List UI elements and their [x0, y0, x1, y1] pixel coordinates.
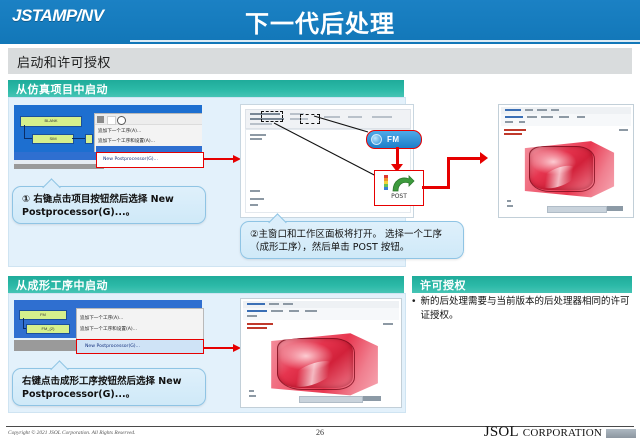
tree-node-fm-2: FM_(2)	[26, 324, 70, 334]
section-header-launch-from-project: 从仿真项目中启动	[8, 80, 404, 97]
page-heading-label: 启动和许可授权	[8, 52, 111, 71]
section-header-launch-from-forming-label: 从成形工序中启动	[8, 277, 108, 293]
callout-step-3-text: 右键点击成形工序按钮然后选择 New Postprocessor(G)...。	[13, 369, 205, 407]
callout-step-2: ②主窗口和工作区面板将打开。 选择一个工序（成形工序），然后单击 POST 按钮…	[240, 221, 464, 259]
tree-connector-vertical-bottom	[23, 318, 24, 328]
fm-icon	[371, 134, 382, 145]
connector-post-up	[447, 157, 450, 189]
slide: JSTAMP/NV 下一代后处理 启动和许可授权 从仿真项目中启动 BLANK …	[0, 0, 640, 445]
section-header-launch-from-forming: 从成形工序中启动	[8, 276, 404, 293]
screenshot-postprocessor-result-top	[498, 104, 634, 218]
result-window-canvas	[501, 126, 631, 214]
connector-post-to-window	[447, 157, 483, 160]
jsol-logo-sub: CORPORATION	[523, 427, 602, 439]
license-bullet-text: 新的后处理需要与当前版本的后处理器相同的许可证授权。	[421, 295, 632, 323]
part-render-bottom	[269, 332, 379, 396]
context-menu-toolbar	[95, 114, 202, 125]
callout-step-1-text: ① 右键点击项目按钮然后选择 New Postprocessor(G)...。	[13, 187, 205, 225]
menu-item-add-next-process-and-setting[interactable]: 追加下一个工序和设置(A)...	[98, 138, 155, 144]
menu-item-new-postprocessor-top-label: New Postprocessor(G)...	[97, 153, 203, 162]
post-button-label: POST	[375, 193, 423, 200]
tree-node-end	[85, 134, 93, 144]
jsol-corporation-logo: JSOLCORPORATION	[484, 424, 602, 441]
tree-node-sim: SIM	[32, 134, 74, 144]
forming-tree-pane: FM FM_(2)	[14, 308, 76, 338]
post-icon	[383, 174, 415, 193]
part-render-top	[523, 140, 615, 198]
tree-node-blank: BLANK	[20, 116, 82, 127]
tree-strip-grey-bottom	[14, 340, 76, 351]
fm-button[interactable]: FM	[366, 130, 422, 149]
toolbar-square-icon	[97, 116, 104, 123]
page-title: 下一代后处理	[0, 4, 640, 39]
page-heading: 启动和许可授权	[8, 48, 632, 74]
callout-step-3: 右键点击成形工序按钮然后选择 New Postprocessor(G)...。	[12, 368, 206, 406]
title-underline	[130, 40, 640, 42]
tree-connector-right	[72, 138, 86, 139]
tree-connector-vertical	[24, 125, 25, 138]
tree-node-fm: FM	[19, 310, 67, 320]
section-header-license: 许可授权	[412, 276, 632, 293]
screenshot-postprocessor-result-bottom	[240, 298, 402, 408]
jsol-logo-main: JSOL	[484, 424, 519, 440]
section-header-license-label: 许可授权	[412, 277, 466, 293]
license-body: • 新的后处理需要与当前版本的后处理器相同的许可证授权。	[412, 295, 632, 347]
context-menu-bottom[interactable]: 追加下一个工序(A)... 追加下一个工序和设置(A)...	[76, 308, 204, 340]
slide-title-bar: JSTAMP/NV 下一代后处理	[0, 0, 640, 44]
flow-arrow-1	[204, 158, 234, 160]
callout-step-1: ① 右键点击项目按钮然后选择 New Postprocessor(G)...。	[12, 186, 206, 224]
toolbar-circle-icon	[117, 116, 126, 125]
menu-item-new-postprocessor-bottom[interactable]: New Postprocessor(G)...	[76, 339, 204, 354]
connector-post-right	[422, 186, 450, 189]
flow-arrow-3	[204, 347, 234, 349]
toolbar-page-icon	[107, 116, 116, 125]
menu-item-add-next-process[interactable]: 追加下一个工序(A)...	[98, 128, 141, 134]
fm-button-label: FM	[387, 135, 400, 144]
bullet-marker: •	[412, 295, 416, 323]
menu-item-add-next-process-bottom[interactable]: 追加下一个工序(A)...	[80, 315, 123, 321]
jsol-logo-mark-icon	[606, 429, 636, 438]
tree-selected-strip	[14, 152, 96, 160]
tree-strip-grey	[14, 164, 104, 169]
connector-arrowhead-right	[480, 152, 488, 164]
menu-item-new-postprocessor-bottom-label: New Postprocessor(G)...	[77, 340, 203, 349]
result-window-canvas-bottom	[243, 320, 399, 404]
project-tree-pane: BLANK SIM	[14, 113, 94, 153]
menu-item-new-postprocessor-top[interactable]: New Postprocessor(G)...	[96, 152, 204, 168]
section-header-launch-from-project-label: 从仿真项目中启动	[8, 81, 108, 97]
app-title-bar-bottom	[14, 300, 202, 308]
license-bullet-row: • 新的后处理需要与当前版本的后处理器相同的许可证授权。	[412, 295, 632, 323]
menu-item-add-next-process-and-setting-bottom[interactable]: 追加下一个工序和设置(A)...	[80, 326, 137, 332]
post-button[interactable]: POST	[374, 170, 424, 206]
app-title-bar	[14, 105, 202, 113]
